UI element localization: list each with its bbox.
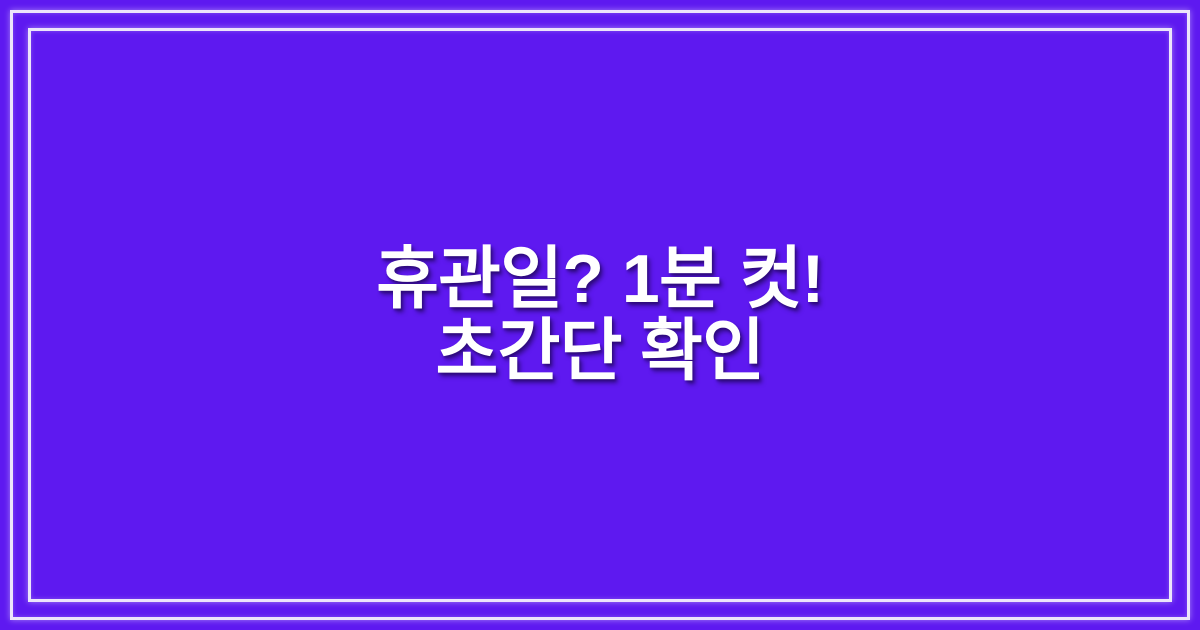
headline-container: 휴관일? 1분 컷! 초간단 확인: [0, 0, 1200, 630]
headline-line-2: 초간단 확인: [376, 315, 824, 387]
headline-line-1: 휴관일? 1분 컷!: [376, 243, 824, 315]
page-title: 휴관일? 1분 컷! 초간단 확인: [376, 243, 824, 387]
thumbnail-card: 휴관일? 1분 컷! 초간단 확인: [0, 0, 1200, 630]
